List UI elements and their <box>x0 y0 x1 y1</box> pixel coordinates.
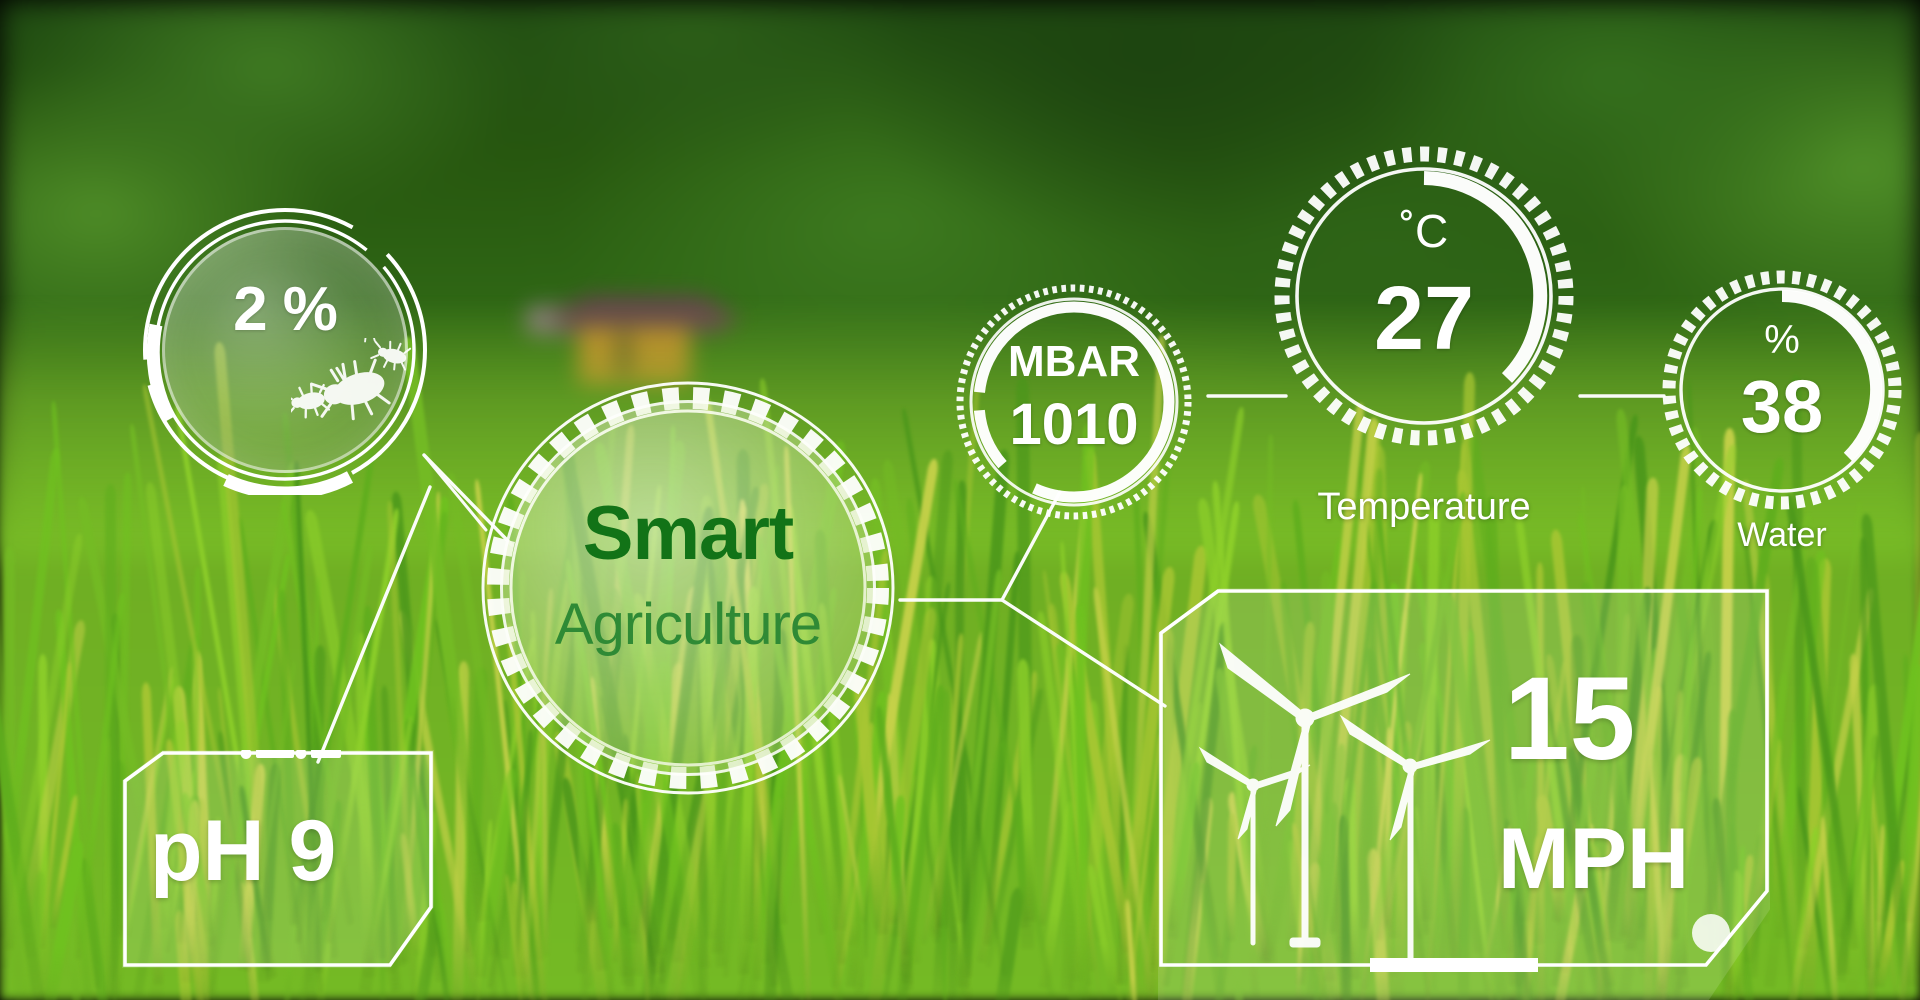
water-gauge-value: 38 <box>1662 370 1902 444</box>
smart-badge-title: Smart <box>478 496 898 572</box>
wind-panel-value: 15 <box>1504 660 1635 778</box>
temperature-gauge-unit: ˚C <box>1274 208 1574 254</box>
connector-pest-to-ph <box>318 487 430 762</box>
pressure-gauge-value: 1010 <box>954 396 1194 454</box>
smart-badge-subtitle: Agriculture <box>478 596 898 654</box>
hud-overlay: 2 % <box>0 0 1920 1000</box>
water-gauge-unit: % <box>1662 320 1902 360</box>
water-gauge-label: Water <box>1662 518 1902 552</box>
pressure-gauge-unit: MBAR <box>954 340 1194 384</box>
insect-icon <box>291 338 431 448</box>
pest-gauge[interactable]: 2 % <box>140 205 430 495</box>
wind-panel-unit: MPH <box>1498 816 1689 902</box>
ph-panel-value: pH 9 <box>150 808 336 894</box>
temperature-gauge-value: 27 <box>1274 274 1574 364</box>
connector-center-to-wind <box>1002 600 1165 706</box>
wind-panel-frame <box>1158 588 1770 1000</box>
ph-panel[interactable]: pH 9 <box>122 750 434 968</box>
connector-pest-to-center-b <box>424 455 486 530</box>
temperature-gauge-label: Temperature <box>1274 488 1574 526</box>
pressure-gauge[interactable]: MBAR 1010 <box>954 282 1194 522</box>
temperature-gauge[interactable]: ˚C 27 <box>1274 146 1574 446</box>
wind-turbine-icon <box>1200 644 1490 966</box>
smart-badge-disc <box>500 400 876 776</box>
water-gauge[interactable]: % 38 <box>1662 270 1902 510</box>
smart-agriculture-scene: 2 % <box>0 0 1920 1000</box>
wind-panel[interactable]: 15 MPH <box>1158 588 1770 1000</box>
pest-gauge-value: 2 % <box>140 279 430 341</box>
smart-agriculture-badge[interactable]: Smart Agriculture <box>478 378 898 798</box>
